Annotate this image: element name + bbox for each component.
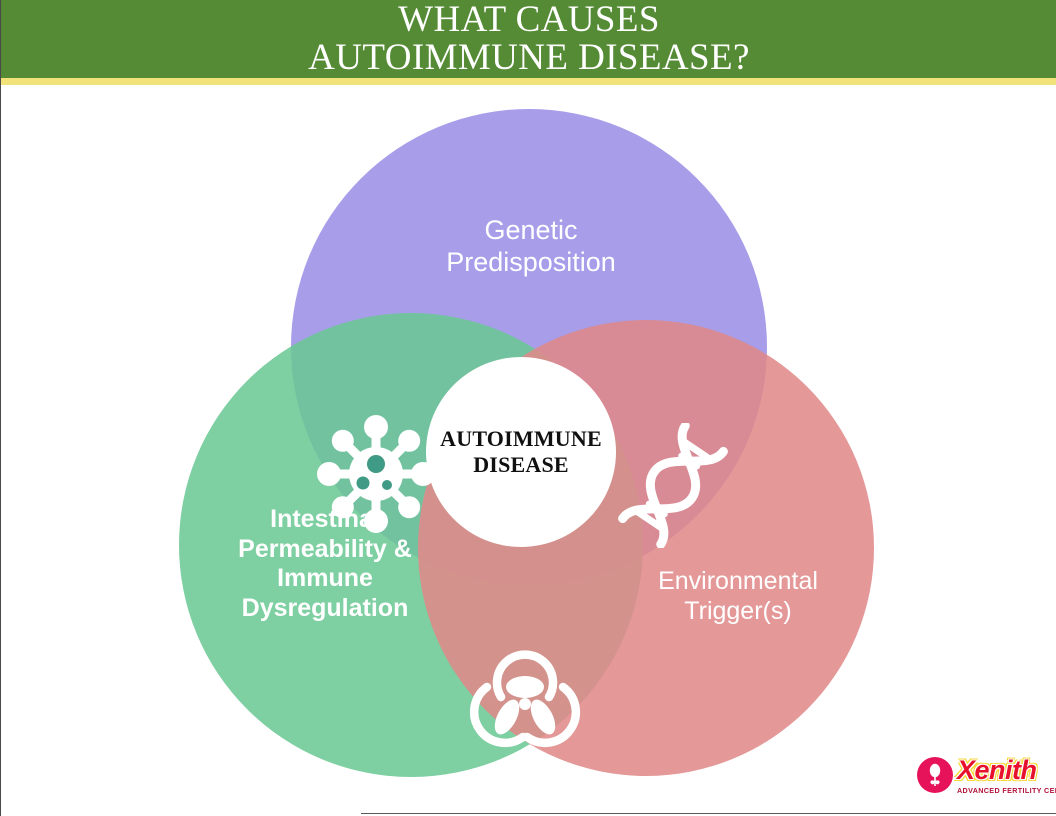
logo-mark-icon xyxy=(917,757,953,793)
page-title: WHAT CAUSES AUTOIMMUNE DISEASE? xyxy=(308,1,750,76)
header-accent-rule xyxy=(1,78,1056,85)
logo-wordmark: Xenith xyxy=(957,755,1037,786)
header-banner: WHAT CAUSES AUTOIMMUNE DISEASE? xyxy=(1,0,1056,78)
venn-center-hub: AUTOIMMUNE DISEASE xyxy=(426,357,616,547)
venn-diagram: AUTOIMMUNE DISEASE Genetic Predispositio… xyxy=(1,85,1056,785)
logo-tagline: ADVANCED FERTILITY CENTRE xyxy=(957,786,1056,795)
infographic-page: WHAT CAUSES AUTOIMMUNE DISEASE? AUTOIMMU… xyxy=(0,0,1056,816)
brand-logo[interactable]: Xenith ADVANCED FERTILITY CENTRE xyxy=(917,755,1047,801)
footer-divider xyxy=(361,813,1056,814)
venn-center-label: AUTOIMMUNE DISEASE xyxy=(440,426,602,477)
